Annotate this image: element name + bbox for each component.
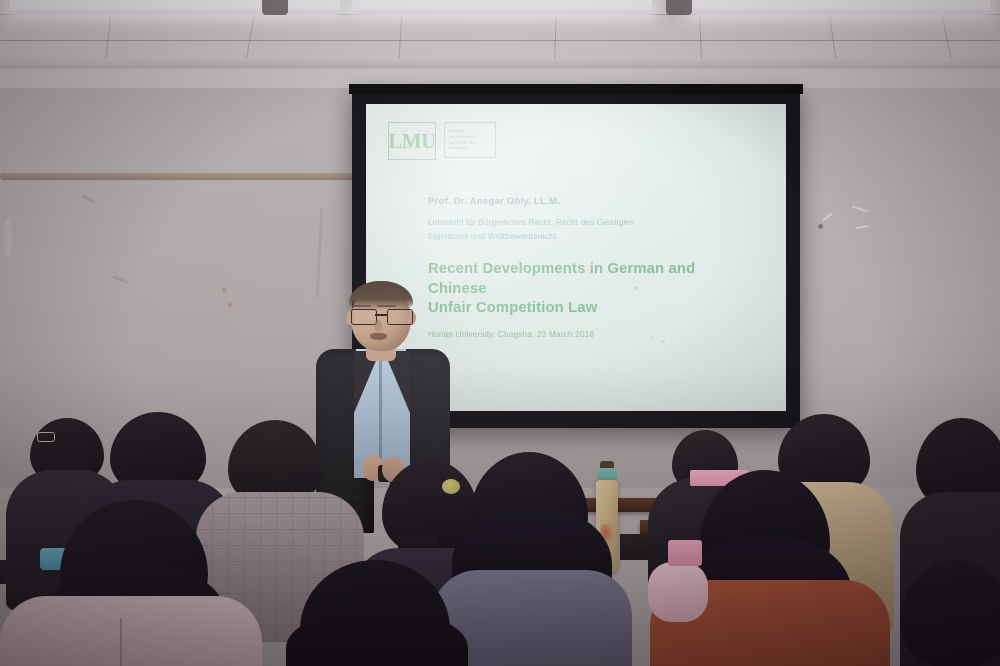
pink-pouch	[668, 540, 702, 566]
ceiling-light-strip	[690, 0, 990, 13]
lamp-housing	[666, 0, 692, 15]
ceiling-beam	[0, 58, 1000, 66]
slide-venue-date: Hunan University, Chagsha, 23 March 2018	[428, 330, 594, 339]
institution-line-2: Maximilians-	[449, 135, 491, 140]
slide-title-line-1: Recent Developments in German and Chines…	[428, 260, 758, 299]
institution-line-1: Ludwig-	[449, 129, 491, 134]
lecture-hall-photo: LMU Ludwig- Maximilians- Universität Mün…	[0, 0, 1000, 666]
lmu-logo: LMU Ludwig- Maximilians- Universität Mün…	[388, 122, 496, 160]
chair-line-1: Lehrstuhl für Bürgerliches Recht, Recht …	[428, 216, 728, 230]
lmu-logo-mark: LMU	[388, 122, 436, 160]
speaker-mouth	[370, 333, 387, 340]
ceiling-light-strip	[10, 0, 340, 13]
audience-long-hair	[286, 612, 468, 666]
speaker-nose	[374, 320, 382, 332]
lmu-logo-text: LMU	[388, 131, 436, 152]
institution-line-4: München	[449, 146, 491, 151]
lamp-housing	[262, 0, 288, 15]
slide-title: Recent Developments in German and Chines…	[428, 260, 758, 319]
audience-pink-sleeve	[648, 562, 708, 622]
ceiling	[0, 0, 1000, 92]
audience-body-pink	[0, 596, 262, 666]
institution-line-3: Universität	[449, 141, 491, 146]
lmu-institution-block: Ludwig- Maximilians- Universität München	[444, 122, 496, 158]
ceiling-light-strip	[352, 0, 652, 13]
slide-presenter-name: Prof. Dr. Ansgar Ohly, LL.M.	[428, 196, 560, 207]
eyeglasses-icon	[37, 432, 55, 442]
hair-scrunchie	[442, 479, 460, 494]
wall-rail	[0, 173, 358, 180]
chair-line-2: Eigentums und Wettbewerbsrecht	[428, 230, 728, 244]
slide-chair-affiliation: Lehrstuhl für Bürgerliches Recht, Recht …	[428, 216, 728, 243]
slide-title-line-2: Unfair Competition Law	[428, 299, 758, 319]
